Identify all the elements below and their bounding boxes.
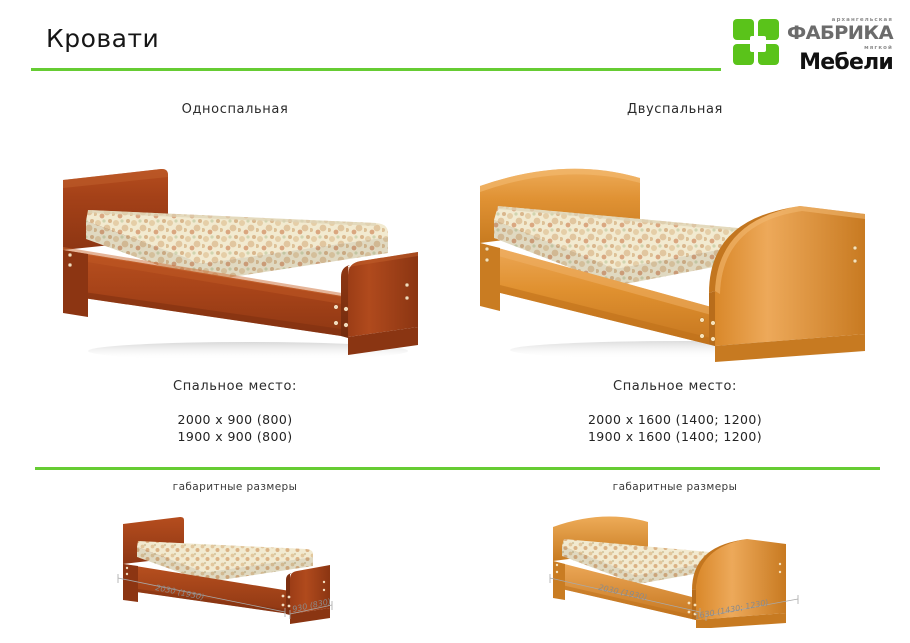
column-heading-double: Двуспальная xyxy=(530,102,820,117)
spec-line: 1900 x 900 (800) xyxy=(90,428,380,445)
logo-line1-big: ФАБРИКА xyxy=(787,24,893,43)
spec-block-double: Спальное место: 2000 x 1600 (1400; 1200)… xyxy=(525,379,825,445)
spec-block-single: Спальное место: 2000 x 900 (800) 1900 x … xyxy=(90,379,380,445)
spec-line: 2000 x 1600 (1400; 1200) xyxy=(525,411,825,428)
double-bed-dimension-lines xyxy=(540,572,830,634)
catalog-page: Кровати архангельская ФАБРИКА мягкой Меб… xyxy=(0,0,910,643)
overall-caption-double: габаритные размеры xyxy=(530,481,820,493)
single-bed-illustration xyxy=(58,155,428,365)
double-bed-illustration xyxy=(470,148,880,363)
double-bed-image xyxy=(470,148,880,363)
divider-top xyxy=(31,68,721,71)
spec-dimensions-single: 2000 x 900 (800) 1900 x 900 (800) xyxy=(90,411,380,445)
logo-wordmark: архангельская ФАБРИКА мягкой Мебели xyxy=(789,17,893,73)
spec-caption-single: Спальное место: xyxy=(90,379,380,394)
logo-center-gap xyxy=(750,36,766,52)
brand-logo: архангельская ФАБРИКА мягкой Мебели xyxy=(733,17,893,71)
spec-line: 2000 x 900 (800) xyxy=(90,411,380,428)
overall-caption-single: габаритные размеры xyxy=(95,481,375,493)
logo-mark-icon xyxy=(733,19,783,69)
spec-caption-double: Спальное место: xyxy=(525,379,825,394)
single-bed-image xyxy=(58,155,428,365)
logo-line2-big: Мебели xyxy=(789,52,893,73)
spec-dimensions-double: 2000 x 1600 (1400; 1200) 1900 x 1600 (14… xyxy=(525,411,825,445)
divider-middle xyxy=(35,467,880,470)
page-title: Кровати xyxy=(46,24,159,53)
column-heading-single: Односпальная xyxy=(95,102,375,117)
spec-line: 1900 x 1600 (1400; 1200) xyxy=(525,428,825,445)
